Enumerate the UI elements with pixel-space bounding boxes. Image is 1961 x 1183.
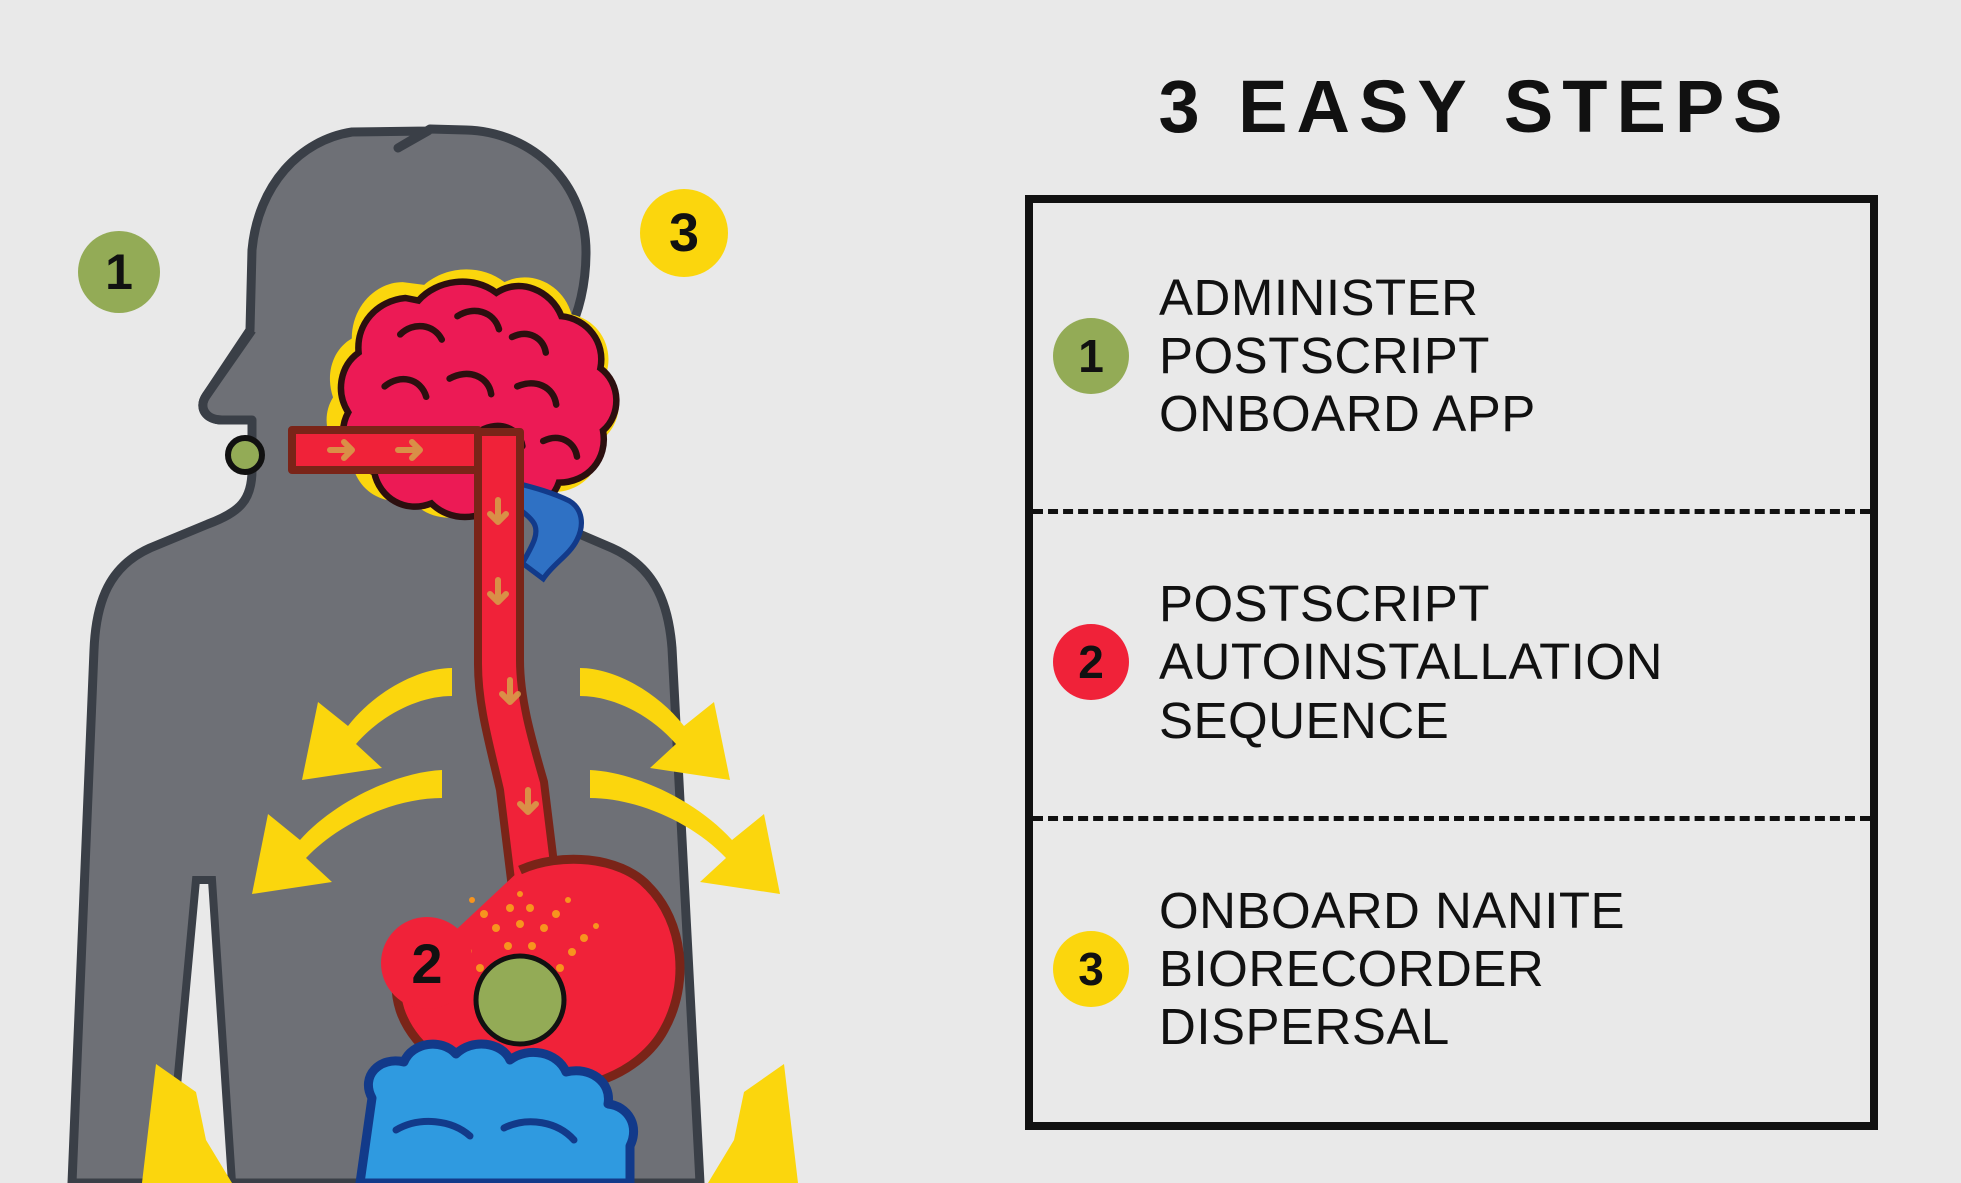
- infographic-root: 1 3 2 3 EASY STEPS 1 ADMINISTER POSTSCRI…: [0, 0, 1961, 1183]
- step-line: ONBOARD NANITE: [1159, 882, 1625, 940]
- step-text-2: POSTSCRIPT AUTOINSTALLATION SEQUENCE: [1159, 575, 1663, 749]
- steps-box: 1 ADMINISTER POSTSCRIPT ONBOARD APP 2 PO…: [1025, 195, 1878, 1130]
- step-badge-3: 3: [1053, 931, 1129, 1007]
- page-title: 3 EASY STEPS: [1010, 70, 1940, 144]
- step-row-1: 1 ADMINISTER POSTSCRIPT ONBOARD APP: [1033, 203, 1870, 509]
- step-line: POSTSCRIPT: [1159, 327, 1536, 385]
- postscript-pill-at-mouth: [228, 438, 262, 472]
- body-diagram-svg: [0, 0, 980, 1183]
- step-row-2: 2 POSTSCRIPT AUTOINSTALLATION SEQUENCE: [1033, 509, 1870, 815]
- step-line: SEQUENCE: [1159, 692, 1663, 750]
- step-line: DISPERSAL: [1159, 998, 1625, 1056]
- step-line: ONBOARD APP: [1159, 385, 1536, 443]
- step-line: BIORECORDER: [1159, 940, 1625, 998]
- step-text-1: ADMINISTER POSTSCRIPT ONBOARD APP: [1159, 269, 1536, 443]
- human-body-illustration: 1 3 2: [0, 0, 980, 1183]
- step-row-3: 3 ONBOARD NANITE BIORECORDER DISPERSAL: [1033, 816, 1870, 1122]
- step-badge-1: 1: [1053, 318, 1129, 394]
- step-line: POSTSCRIPT: [1159, 575, 1663, 633]
- callout-badge-1: 1: [78, 231, 160, 313]
- callout-badge-2: 2: [381, 917, 473, 1009]
- callout-badge-3: 3: [640, 189, 728, 277]
- step-badge-2: 2: [1053, 624, 1129, 700]
- step-text-3: ONBOARD NANITE BIORECORDER DISPERSAL: [1159, 882, 1625, 1056]
- step-line: AUTOINSTALLATION: [1159, 633, 1663, 691]
- steps-panel: 3 EASY STEPS 1 ADMINISTER POSTSCRIPT ONB…: [1010, 70, 1940, 1130]
- step-line: ADMINISTER: [1159, 269, 1536, 327]
